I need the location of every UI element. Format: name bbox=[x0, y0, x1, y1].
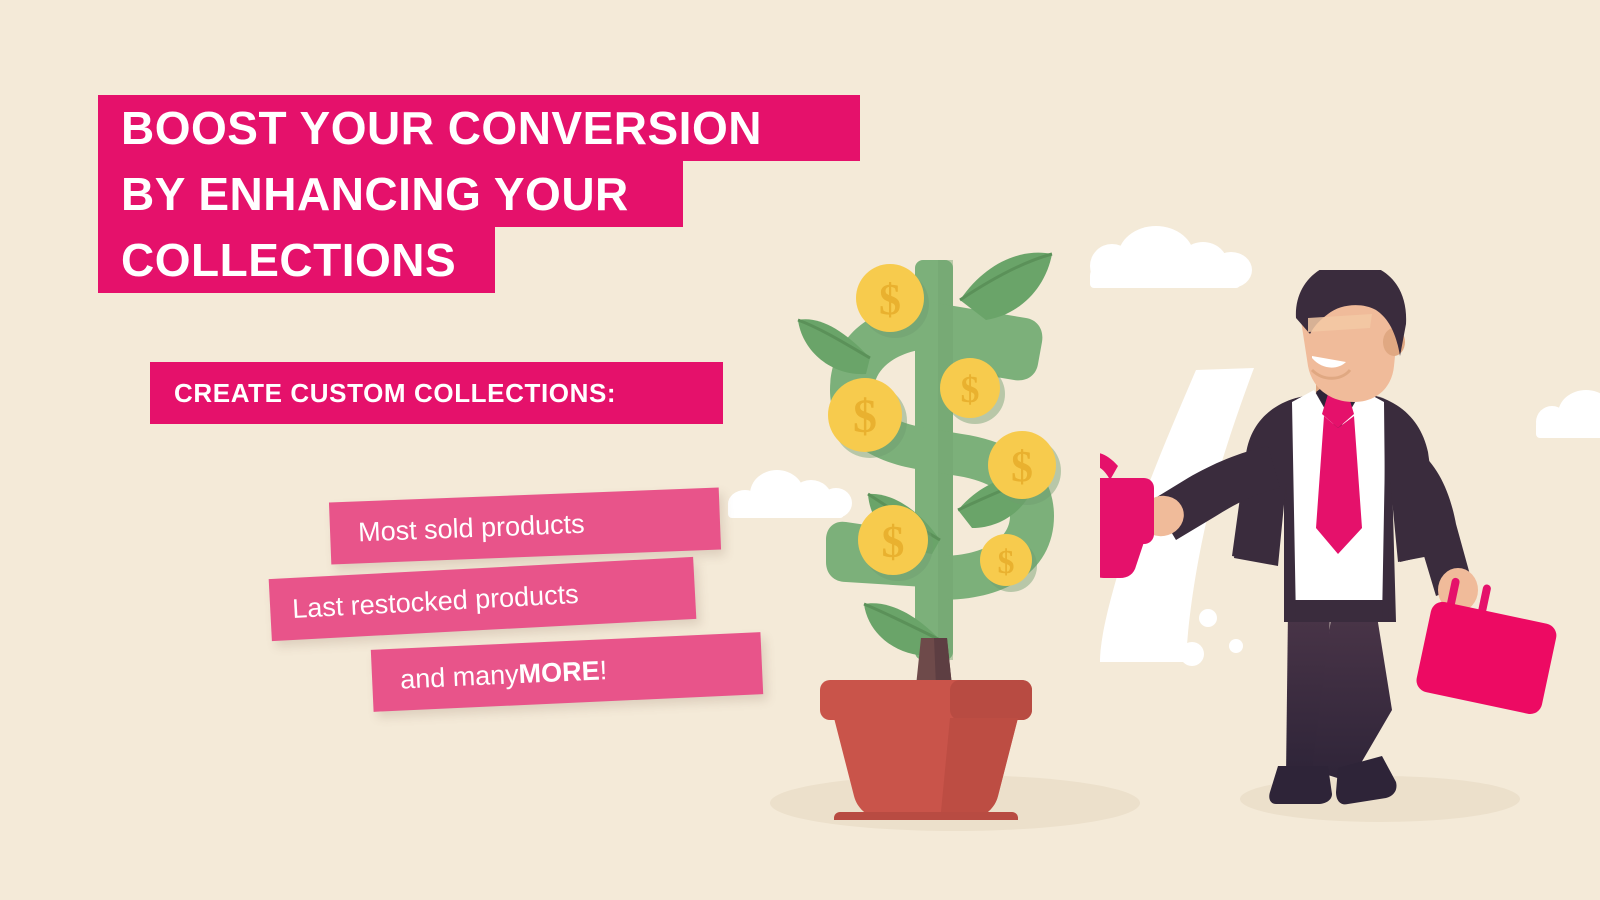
briefcase bbox=[1414, 578, 1563, 716]
subheading-label: CREATE CUSTOM COLLECTIONS: bbox=[174, 378, 616, 409]
marketing-banner: $ $ $ $ $ bbox=[0, 0, 1600, 900]
headline: BOOST YOUR CONVERSION BY ENHANCING YOUR … bbox=[98, 95, 860, 293]
coin-icon: $ bbox=[828, 378, 907, 458]
character-legs bbox=[1286, 610, 1392, 782]
svg-text:$: $ bbox=[879, 275, 901, 324]
businessman-illustration bbox=[1100, 270, 1600, 815]
ribbon-label: Most sold products bbox=[358, 508, 586, 548]
money-plant-illustration: $ $ $ $ $ bbox=[790, 240, 1090, 820]
ribbon-label: Last restocked products bbox=[291, 578, 579, 624]
svg-text:$: $ bbox=[961, 369, 980, 411]
headline-line-1: BOOST YOUR CONVERSION bbox=[98, 95, 860, 161]
svg-text:$: $ bbox=[998, 544, 1015, 581]
character-head bbox=[1296, 270, 1406, 402]
svg-text:$: $ bbox=[882, 516, 905, 567]
subheading-banner: CREATE CUSTOM COLLECTIONS: bbox=[150, 362, 723, 424]
svg-text:$: $ bbox=[853, 390, 877, 443]
list-item: Last restocked products bbox=[269, 557, 697, 641]
ribbon-label-tail: ! bbox=[599, 655, 608, 686]
svg-text:$: $ bbox=[1011, 442, 1033, 491]
terracotta-pot bbox=[820, 680, 1032, 820]
headline-line-2: BY ENHANCING YOUR bbox=[98, 161, 683, 227]
plant-trunk bbox=[916, 638, 952, 686]
ribbon-label: and many bbox=[399, 659, 519, 695]
list-item: Most sold products bbox=[329, 488, 721, 565]
list-item: and many MORE! bbox=[371, 632, 763, 712]
headline-line-3: COLLECTIONS bbox=[98, 227, 495, 293]
leaf-icon bbox=[960, 253, 1052, 320]
ribbon-label-emphasis: MORE bbox=[518, 655, 600, 690]
